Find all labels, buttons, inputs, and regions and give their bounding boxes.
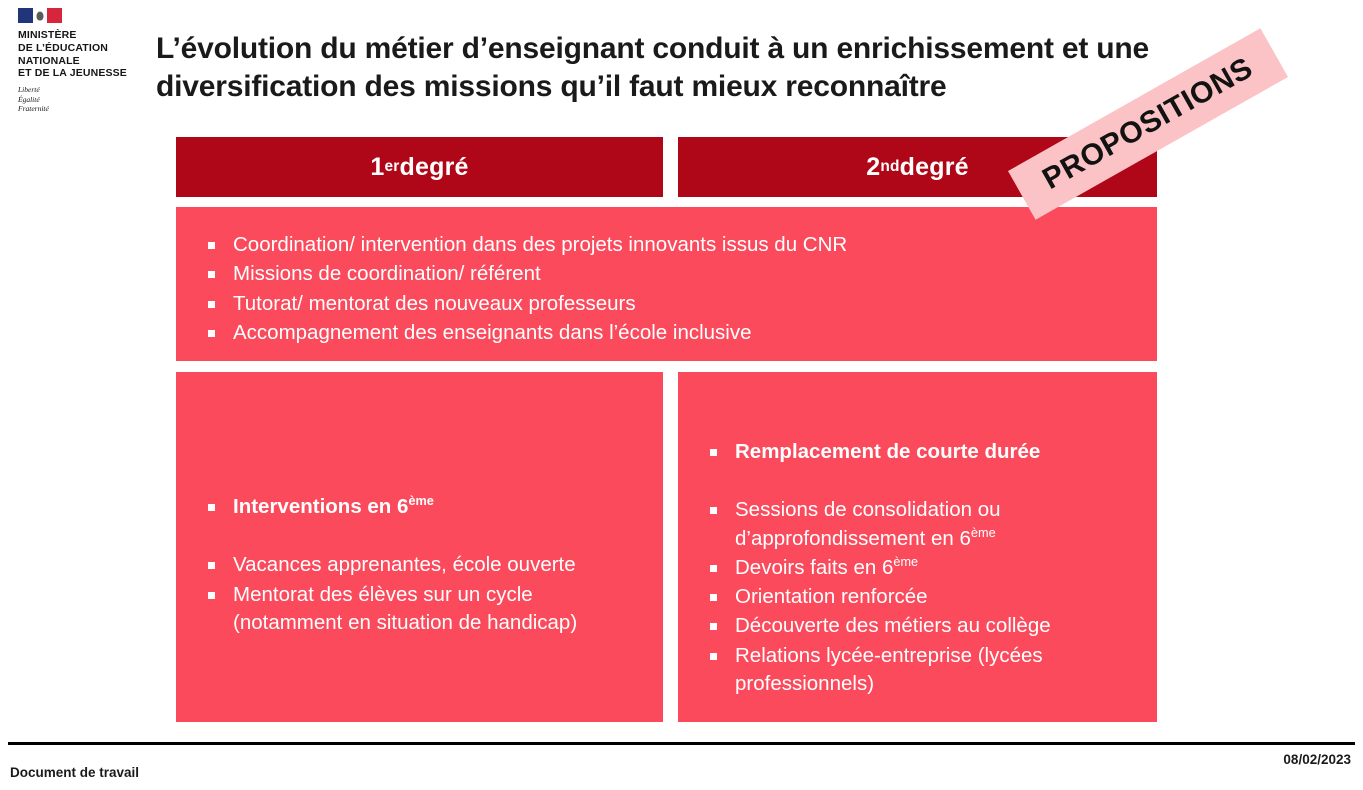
second-degree-missions-list: Remplacement de courte durée Sessions de… [704,438,1137,698]
list-item: Orientation renforcée [704,583,1137,611]
second-degree-missions-panel: Remplacement de courte durée Sessions de… [678,372,1157,722]
bullet-text: Coordination/ intervention dans des proj… [233,233,847,256]
column-header-first-degree: 1er degré [176,137,663,197]
footer-date: 08/02/2023 [1283,752,1351,767]
motto-line-3: Fraternité [18,104,138,114]
bullet-text: Tutorat/ mentorat des nouveaux professeu… [233,292,636,315]
bullet-text: Interventions en 6 [233,495,408,518]
list-item: Remplacement de courte durée [704,438,1137,466]
list-item: Accompagnement des enseignants dans l’éc… [202,319,1131,347]
list-item: Tutorat/ mentorat des nouveaux professeu… [202,290,1131,318]
list-item: Vacances apprenantes, école ouverte [202,551,643,579]
list-item: Coordination/ intervention dans des proj… [202,231,1131,259]
bullet-text: Vacances apprenantes, école ouverte [233,553,576,576]
bullet-text: Orientation renforcée [735,585,928,608]
header-first-degree-label: degré [400,153,469,182]
first-degree-missions-panel: Interventions en 6ème Vacances apprenant… [176,372,663,722]
bullet-text: Mentorat des élèves sur un cycle (notamm… [233,583,577,634]
list-item: Missions de coordination/ référent [202,260,1131,288]
footer-divider [8,742,1355,745]
shared-missions-panel: Coordination/ intervention dans des proj… [176,207,1157,361]
footer-document-status: Document de travail [10,765,139,780]
flag-blue-band [18,8,33,23]
header-second-degree-number: 2 [866,153,880,182]
list-item: Sessions de consolidation ou d’approfond… [704,496,1137,553]
page-title: L’évolution du métier d’enseignant condu… [156,30,1276,105]
shared-missions-list: Coordination/ intervention dans des proj… [202,231,1131,347]
bullet-text: Accompagnement des enseignants dans l’éc… [233,321,752,344]
first-degree-missions-list: Interventions en 6ème Vacances apprenant… [202,493,643,637]
slide-canvas: MINISTÈRE DE L’ÉDUCATION NATIONALE ET DE… [0,0,1363,790]
french-flag-icon [18,8,62,23]
ministry-name: MINISTÈRE DE L’ÉDUCATION NATIONALE ET DE… [18,29,138,80]
list-item: Mentorat des élèves sur un cycle (notamm… [202,581,643,638]
header-first-degree-number: 1 [370,153,384,182]
bullet-text: Sessions de consolidation ou d’approfond… [735,498,1001,549]
bullet-text: Remplacement de courte durée [735,440,1040,463]
flag-red-band [47,8,62,23]
list-item: Devoirs faits en 6ème [704,554,1137,582]
flag-marianne-icon [33,8,48,23]
bullet-text: Devoirs faits en 6 [735,556,893,579]
bullet-text: Missions de coordination/ référent [233,262,541,285]
motto-line-1: Liberté [18,85,138,95]
bullet-text: Découverte des métiers au collège [735,614,1051,637]
ministry-name-line-1: MINISTÈRE [18,29,138,42]
motto-line-2: Égalité [18,95,138,105]
republic-motto: Liberté Égalité Fraternité [18,85,138,114]
bullet-text: Relations lycée-entreprise (lycées profe… [735,644,1043,695]
first-degree-missions-content: Interventions en 6ème Vacances apprenant… [202,493,643,638]
ministry-name-line-2: DE L’ÉDUCATION [18,42,138,55]
ministry-logo: MINISTÈRE DE L’ÉDUCATION NATIONALE ET DE… [18,8,138,114]
header-second-degree-label: degré [900,153,969,182]
second-degree-missions-content: Remplacement de courte durée Sessions de… [704,438,1137,699]
list-item: Relations lycée-entreprise (lycées profe… [704,642,1137,699]
list-item: Découverte des métiers au collège [704,612,1137,640]
ministry-name-line-3: NATIONALE [18,55,138,68]
bullet-superscript: ème [971,525,996,540]
bullet-superscript: ème [408,493,433,508]
list-item: Interventions en 6ème [202,493,643,521]
bullet-superscript: ème [893,554,918,569]
ministry-name-line-4: ET DE LA JEUNESSE [18,67,138,80]
